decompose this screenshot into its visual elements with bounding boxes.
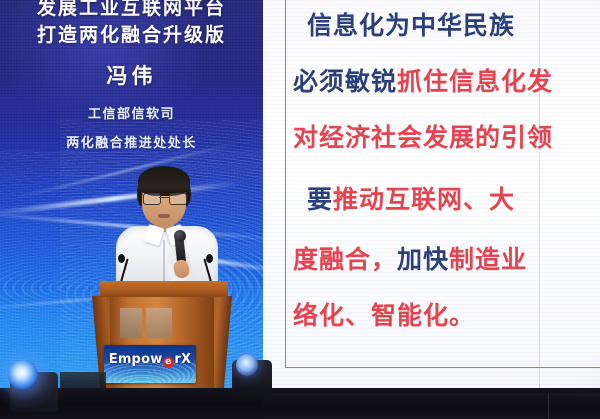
podium-logo-sign: EmpowerX (104, 345, 196, 383)
screen-seam-divider (539, 0, 540, 393)
gooseneck-mic-left-capsule (118, 254, 125, 263)
mouth (158, 214, 170, 218)
conference-stage-photo: 发展工业互联网平台 打造两化融合升级版 冯伟 工信部信软司 两化融合推进处处长 … (0, 0, 600, 419)
hair (138, 166, 190, 196)
slide-text-segment: 抓住信息化发 (397, 67, 553, 96)
logo-suffix-text: rX (174, 352, 191, 367)
lens-right (169, 193, 187, 205)
slide-title-line-1: 发展工业互联网平台 (0, 0, 263, 20)
slide-text-segment: 必须敏锐 (293, 67, 397, 96)
slide-text-segment: 加快 (397, 245, 449, 274)
slide-text-segment: 度融合， (293, 245, 397, 274)
microphone-head-icon (174, 230, 186, 242)
slide-text-line-2: 必须敏锐抓住信息化发 (293, 62, 553, 98)
glasses-bridge (159, 197, 169, 198)
podium-panel-left (120, 308, 142, 338)
speaker-affiliation-label: 工信部信软司 (0, 103, 263, 122)
stage-floor-right (263, 393, 600, 419)
slide-text-line-3: 对经济社会发展的引领 (293, 118, 553, 154)
gooseneck-mic-right-capsule (206, 254, 213, 263)
podium-panel-right (146, 308, 172, 338)
light-lens-icon (236, 354, 258, 376)
slide-text-line-5: 度融合，加快制造业 (293, 240, 527, 276)
right-projection-screen: 信息化为中华民族 必须敏锐抓住信息化发 对经济社会发展的引领 要推动互联网、大 … (263, 0, 600, 393)
slide-text-line-1: 信息化为中华民族 (307, 6, 515, 42)
slide-text-segment: 要 (307, 185, 333, 214)
slide-text-line-6: 络化、智能化。 (293, 296, 475, 332)
slide-title-line-2: 打造两化融合升级版 (0, 20, 263, 47)
light-lens-icon (8, 360, 38, 390)
logo-prefix-text: Empow (109, 352, 163, 367)
podium-desktop (100, 281, 228, 297)
speaker-person (112, 162, 222, 287)
empowerx-logo: EmpowerX (104, 352, 196, 367)
stage-truss (60, 372, 106, 388)
lens-left (143, 193, 161, 205)
shirt-placket (163, 240, 165, 286)
stage-light-right (228, 352, 276, 400)
slide-text-line-4: 要推动互联网、大 (307, 180, 515, 216)
stage-light-left (4, 358, 60, 414)
speaker-position-label: 两化融合推进处处长 (0, 132, 263, 151)
speaker-name-label: 冯伟 (0, 60, 263, 90)
slide-text-segment: 推动互联网、大 (333, 185, 515, 214)
eyeglasses-icon (142, 193, 186, 204)
floor-seam-divider (548, 393, 549, 419)
slide-text-segment: 制造业 (449, 245, 527, 274)
